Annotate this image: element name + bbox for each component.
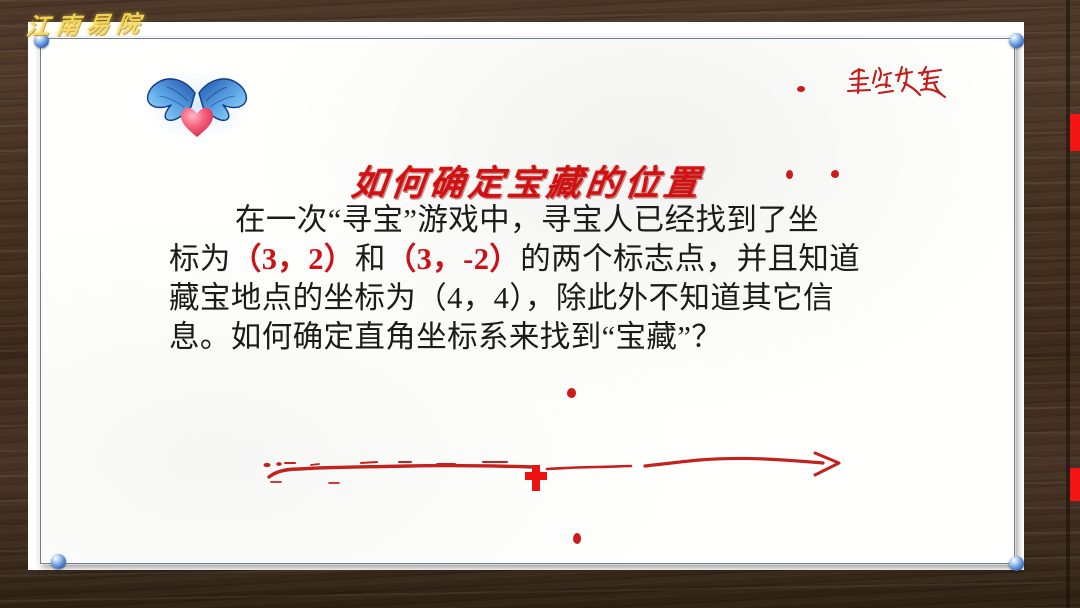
- body-paragraph: 在一次“寻宝”游戏中，寻宝人已经找到了坐 标为（3，2）和（3，-2）的两个标志…: [169, 201, 897, 357]
- presentation-slide[interactable]: 如何确定宝藏的位置 在一次“寻宝”游戏中，寻宝人已经找到了坐 标为（3，2）和（…: [40, 38, 1015, 564]
- unit-length-handwriting: [846, 59, 966, 107]
- handle-top-right[interactable]: [1009, 33, 1024, 48]
- body-line: 息。如何确定直角坐标系来找到“宝藏”？: [169, 318, 897, 357]
- edge-strip-upper[interactable]: [1070, 114, 1080, 151]
- body-text: 藏宝地点的坐标为（4，4），除此外不知道其它信: [169, 281, 834, 315]
- body-text: 在一次“寻宝”游戏中，寻宝人已经找到了坐: [235, 203, 819, 237]
- ink-dot: [797, 86, 805, 92]
- page-title: 如何确定宝藏的位置: [41, 155, 1014, 206]
- body-text: 的两个标志点，并且知道: [520, 242, 860, 276]
- body-text: 标为: [169, 242, 231, 276]
- pen-cross-marker: [525, 465, 547, 491]
- body-line: 在一次“寻宝”游戏中，寻宝人已经找到了坐: [169, 201, 897, 240]
- ink-dot: [567, 388, 576, 398]
- winged-heart-icon: [141, 63, 253, 139]
- ink-dot: [786, 170, 793, 179]
- edge-strip-lower[interactable]: [1070, 468, 1080, 501]
- body-line: 标为（3，2）和（3，-2）的两个标志点，并且知道: [169, 240, 897, 279]
- handle-bottom-left[interactable]: [51, 554, 66, 569]
- ink-dot: [573, 533, 581, 544]
- wood-grain-band: [0, 588, 1080, 596]
- coordinate-value: （3，-2）: [386, 242, 521, 276]
- page-title-text: 如何确定宝藏的位置: [349, 155, 706, 206]
- edge-shadow-strip: [1066, 0, 1070, 608]
- body-line: 藏宝地点的坐标为（4，4），除此外不知道其它信: [169, 279, 897, 318]
- coordinate-value: （3，2）: [231, 242, 355, 276]
- ink-dot: [831, 170, 839, 178]
- channel-watermark: 江南易院: [25, 4, 150, 41]
- hand-drawn-axis-arrow: [259, 439, 849, 501]
- handle-bottom-right[interactable]: [1009, 556, 1024, 571]
- body-text: 息。如何确定直角坐标系来找到“宝藏”？: [169, 320, 722, 354]
- body-text: 和: [355, 242, 386, 276]
- slide-stage: 如何确定宝藏的位置 在一次“寻宝”游戏中，寻宝人已经找到了坐 标为（3，2）和（…: [0, 0, 1080, 608]
